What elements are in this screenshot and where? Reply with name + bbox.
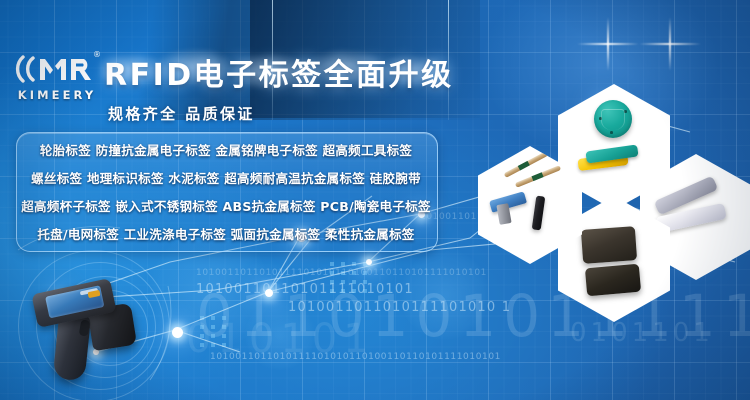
rfid-promo-banner: 0110101011111 10100110110101111010101 10… (0, 0, 750, 400)
background-vignette (0, 0, 750, 400)
